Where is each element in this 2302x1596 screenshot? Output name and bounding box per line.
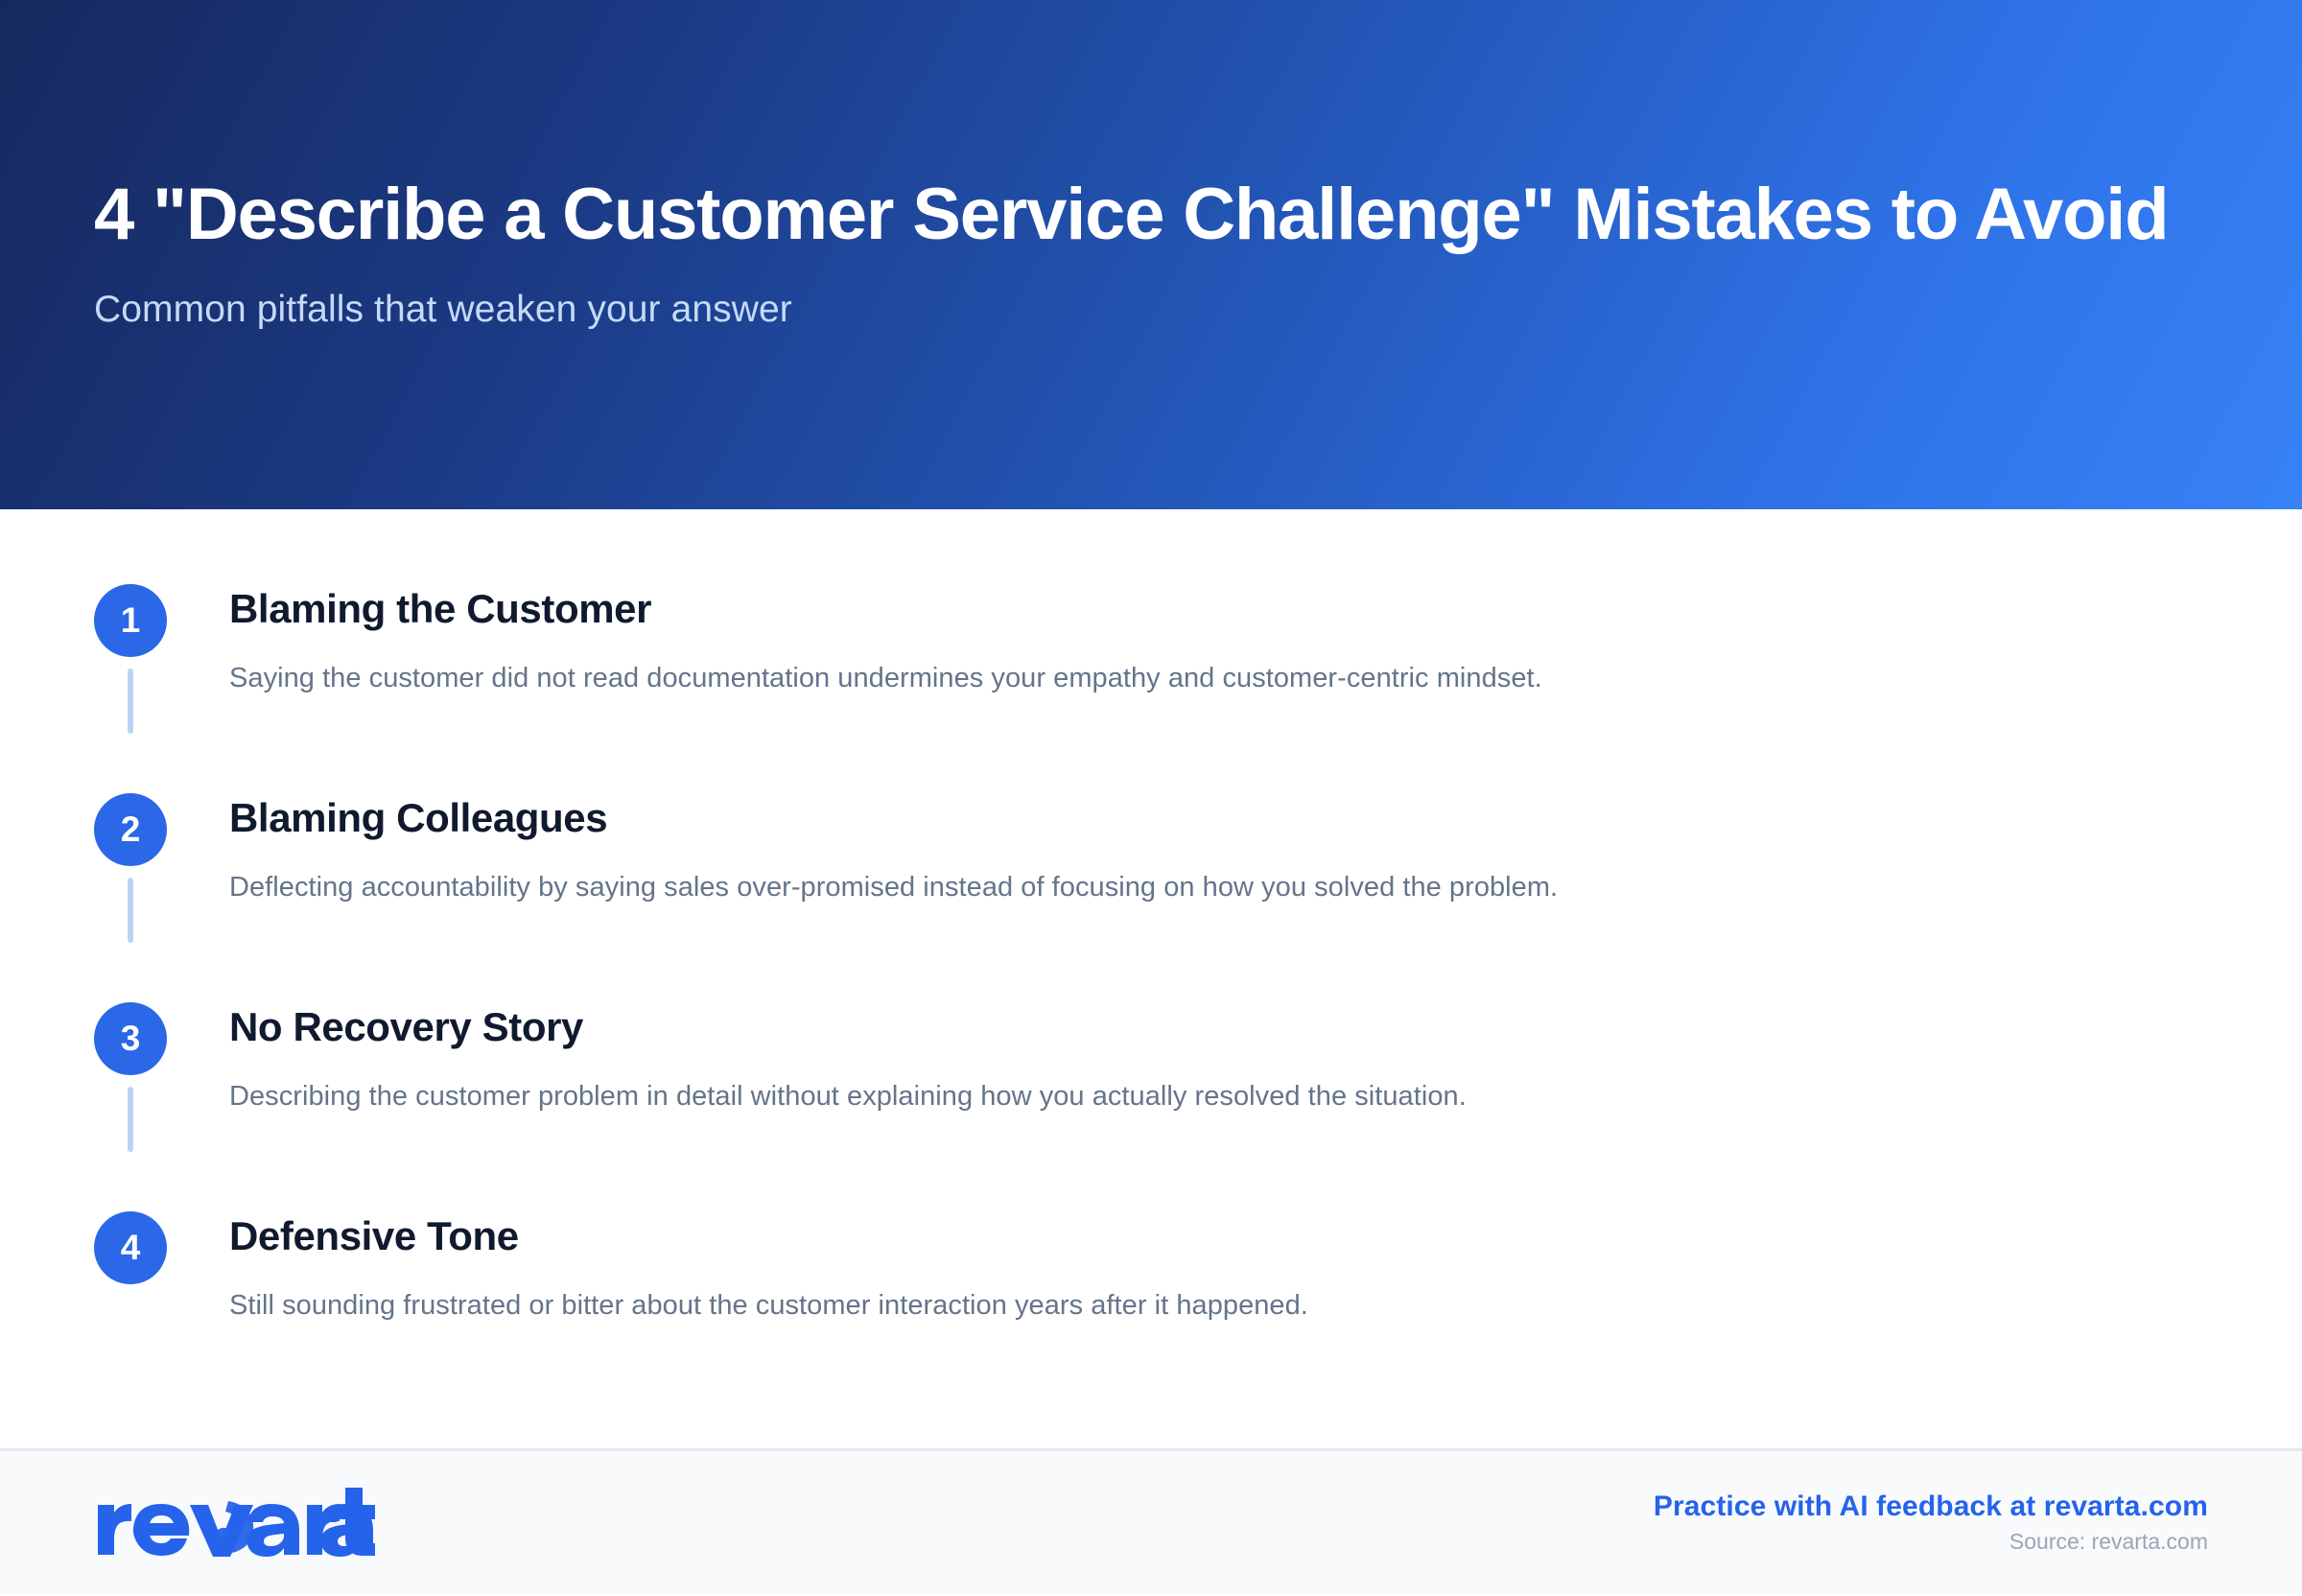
list-item: 2 Blaming Colleagues Deflecting accounta… xyxy=(94,793,2208,1002)
mistakes-list: 1 Blaming the Customer Saying the custom… xyxy=(94,584,2208,1325)
footer-right-block: Practice with AI feedback at revarta.com… xyxy=(1654,1490,2208,1554)
footer-cta-link[interactable]: Practice with AI feedback at revarta.com xyxy=(1654,1490,2208,1522)
item-description: Deflecting accountability by saying sale… xyxy=(229,869,2208,906)
revarta-wordmark-icon xyxy=(94,1480,382,1566)
item-description: Still sounding frustrated or bitter abou… xyxy=(229,1287,2208,1325)
badge-column: 4 xyxy=(94,1211,167,1284)
item-number-badge: 3 xyxy=(94,1002,167,1075)
timeline-connector xyxy=(128,669,133,734)
item-number-badge: 1 xyxy=(94,584,167,657)
item-number-badge: 4 xyxy=(94,1211,167,1284)
item-body: Blaming the Customer Saying the customer… xyxy=(167,584,2208,697)
item-description: Describing the customer problem in detai… xyxy=(229,1078,2208,1115)
item-title: Blaming Colleagues xyxy=(229,796,2208,840)
item-number-badge: 2 xyxy=(94,793,167,866)
list-item: 4 Defensive Tone Still sounding frustrat… xyxy=(94,1211,2208,1325)
main-content: 1 Blaming the Customer Saying the custom… xyxy=(0,509,2302,1448)
item-body: Defensive Tone Still sounding frustrated… xyxy=(167,1211,2208,1325)
item-title: No Recovery Story xyxy=(229,1005,2208,1049)
item-title: Blaming the Customer xyxy=(229,587,2208,631)
page-title: 4 "Describe a Customer Service Challenge… xyxy=(94,176,2185,254)
list-item: 1 Blaming the Customer Saying the custom… xyxy=(94,584,2208,793)
badge-column: 1 xyxy=(94,584,167,734)
timeline-connector xyxy=(128,1087,133,1152)
item-title: Defensive Tone xyxy=(229,1214,2208,1258)
item-body: No Recovery Story Describing the custome… xyxy=(167,1002,2208,1115)
revarta-logo[interactable] xyxy=(94,1450,382,1596)
item-body: Blaming Colleagues Deflecting accountabi… xyxy=(167,793,2208,906)
footer-source-text: Source: revarta.com xyxy=(2009,1530,2208,1554)
footer: Practice with AI feedback at revarta.com… xyxy=(0,1448,2302,1594)
header-banner: 4 "Describe a Customer Service Challenge… xyxy=(0,0,2302,509)
list-item: 3 No Recovery Story Describing the custo… xyxy=(94,1002,2208,1211)
badge-column: 3 xyxy=(94,1002,167,1152)
infographic-poster: 4 "Describe a Customer Service Challenge… xyxy=(0,0,2302,1594)
badge-column: 2 xyxy=(94,793,167,943)
timeline-connector xyxy=(128,878,133,943)
page-subtitle: Common pitfalls that weaken your answer xyxy=(94,288,2208,333)
item-description: Saying the customer did not read documen… xyxy=(229,660,2208,697)
